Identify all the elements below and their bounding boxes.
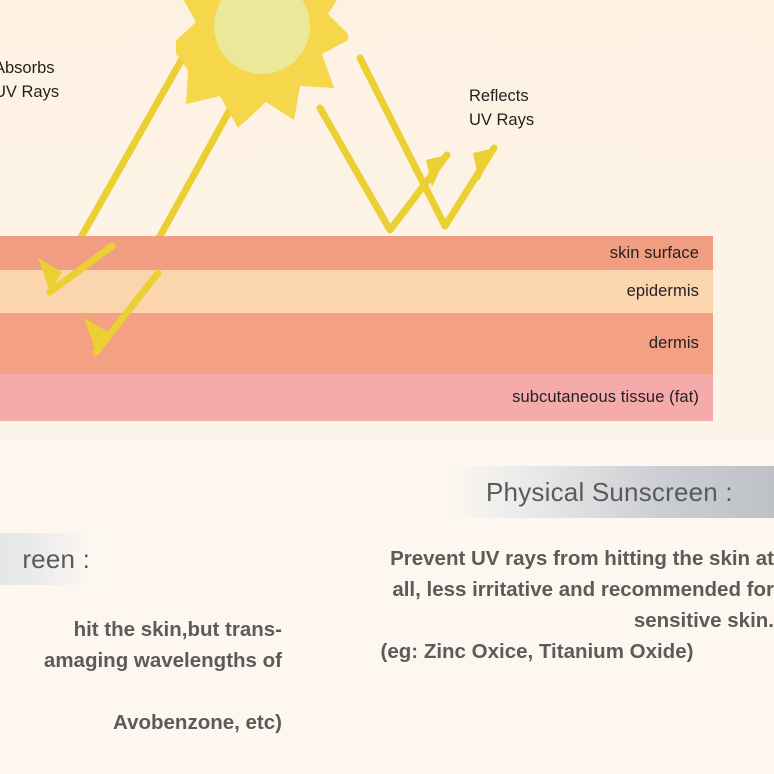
uv-ray-tips-overlay [0, 0, 774, 440]
chemical-sunscreen-heading-text: reen : [22, 544, 90, 575]
sun-and-skin-scene: Absorbs UV Rays Reflects UV Rays skin su… [0, 0, 774, 440]
physical-sunscreen-heading: Physical Sunscreen : [446, 466, 774, 518]
chemical-sunscreen-body: hit the skin,but trans- amaging waveleng… [0, 614, 282, 676]
physical-sunscreen-example: (eg: Zinc Oxice, Titanium Oxide) [300, 636, 774, 667]
physical-sunscreen-heading-text: Physical Sunscreen : [486, 477, 733, 508]
physical-sunscreen-body: Prevent UV rays from hitting the skin at… [300, 543, 774, 636]
infographic-canvas: Absorbs UV Rays Reflects UV Rays skin su… [0, 0, 774, 774]
chemical-sunscreen-heading: reen : [0, 533, 100, 585]
chemical-sunscreen-example: Avobenzone, etc) [0, 707, 282, 738]
